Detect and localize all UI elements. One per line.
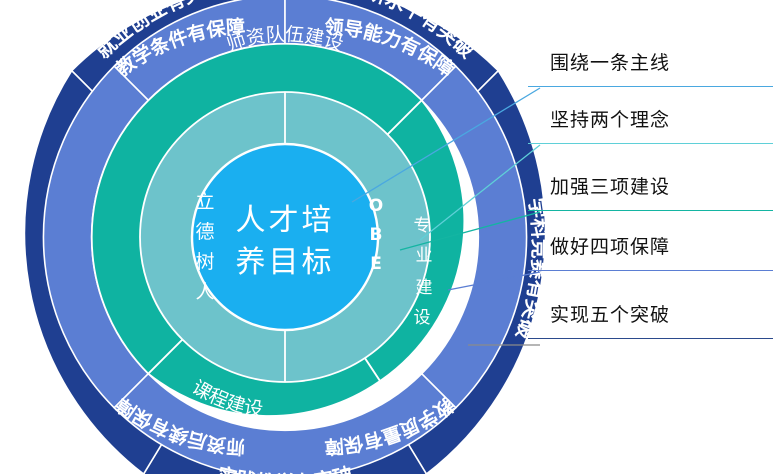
legend-item-1[interactable]: 坚持两个理念 xyxy=(528,105,773,161)
legend-item-2[interactable]: 加强三项建设 xyxy=(528,172,773,228)
teal-label-1-char-2: 建 xyxy=(416,278,433,298)
teal-label-1-char-1: 业 xyxy=(416,246,433,266)
legend-rule-3 xyxy=(528,270,773,271)
legend-item-0[interactable]: 围绕一条主线 xyxy=(528,48,773,104)
legend-panel: 围绕一条主线 坚持两个理念 加强三项建设 做好四项保障 实现五个突破 xyxy=(528,0,773,474)
inner-label-lidezhuren-char-1: 德 xyxy=(195,221,214,243)
legend-rule-1 xyxy=(528,143,773,144)
legend-label-3: 做好四项保障 xyxy=(550,232,670,259)
center-label-line-0: 人才培 xyxy=(236,203,335,238)
inner-label-lidezhuren-char-2: 树 xyxy=(195,251,214,273)
legend-rule-4 xyxy=(528,338,773,339)
teal-label-1-char-3: 设 xyxy=(414,308,431,328)
legend-item-4[interactable]: 实现五个突破 xyxy=(528,300,773,356)
inner-label-obe-char-1: B xyxy=(370,225,383,245)
inner-label-obe-char-0: O xyxy=(369,196,383,216)
legend-label-1: 坚持两个理念 xyxy=(550,105,670,132)
inner-label-obe-char-2: E xyxy=(370,254,382,274)
legend-label-4: 实现五个突破 xyxy=(550,300,670,327)
legend-item-3[interactable]: 做好四项保障 xyxy=(528,232,773,288)
center-label-line-1: 养目标 xyxy=(236,245,335,280)
legend-label-0: 围绕一条主线 xyxy=(550,48,670,75)
inner-label-lidezhuren-char-0: 立 xyxy=(195,191,214,213)
inner-label-lidezhuren-char-3: 人 xyxy=(195,281,214,303)
diagram-canvas: 就业创业有突破 科研水平有突破 学科竞赛有突破 实践教学有突破 班风学风有突破 … xyxy=(0,0,773,474)
legend-rule-0 xyxy=(528,86,773,87)
legend-label-2: 加强三项建设 xyxy=(550,172,670,199)
legend-rule-2 xyxy=(528,210,773,211)
